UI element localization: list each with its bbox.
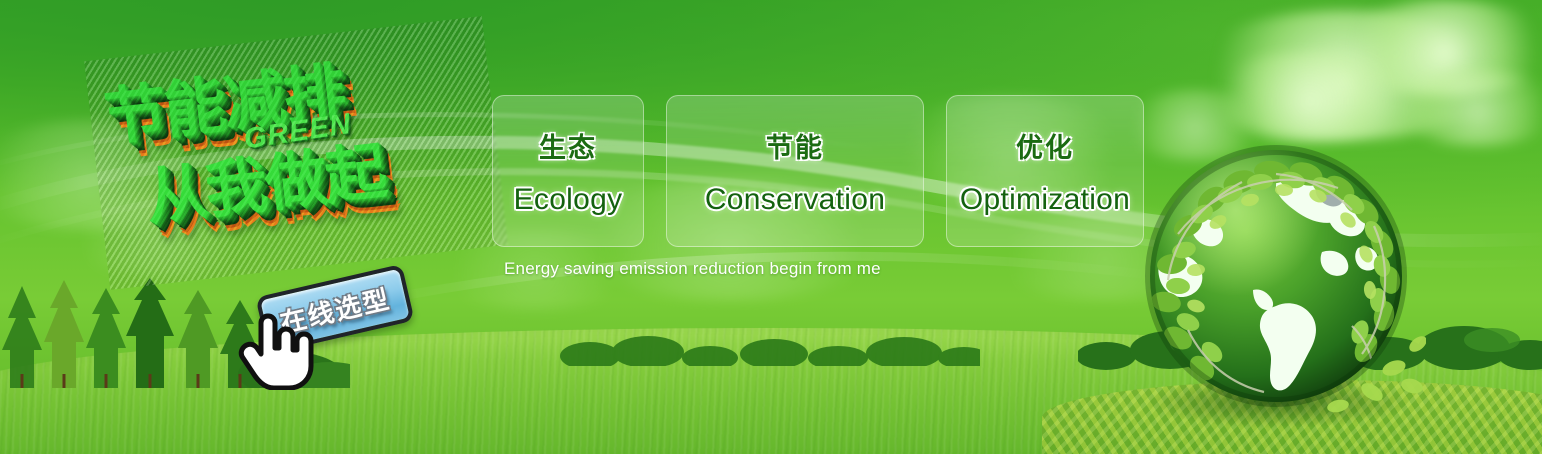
hand-pointer-icon — [238, 310, 316, 390]
feature-card-ecology[interactable]: 生态 Ecology — [492, 95, 644, 247]
leafy-earth-globe — [1126, 130, 1426, 430]
headline-3d: 节能减排 从我做起 GREEN — [84, 16, 507, 290]
cloud-icon — [1205, 52, 1415, 142]
card-title-cn: 优化 — [1016, 126, 1074, 165]
cta-area: 在线选型 — [252, 272, 432, 382]
card-title-cn: 生态 — [539, 126, 597, 165]
green-energy-banner: 节能减排 从我做起 GREEN 生态 Ecology 节能 Conservati… — [0, 0, 1542, 454]
cloud-icon — [1330, 0, 1542, 96]
card-title-en: Optimization — [960, 183, 1130, 217]
card-title-cn: 节能 — [766, 126, 824, 165]
feature-card-optimization[interactable]: 优化 Optimization — [946, 95, 1144, 247]
tagline: Energy saving emission reduction begin f… — [504, 259, 881, 279]
feature-card-conservation[interactable]: 节能 Conservation — [666, 95, 924, 247]
feature-card-group: 生态 Ecology 节能 Conservation 优化 Optimizati… — [492, 95, 1144, 247]
card-title-en: Ecology — [514, 183, 623, 217]
cloud-icon — [1180, 10, 1510, 140]
card-title-en: Conservation — [705, 183, 885, 217]
